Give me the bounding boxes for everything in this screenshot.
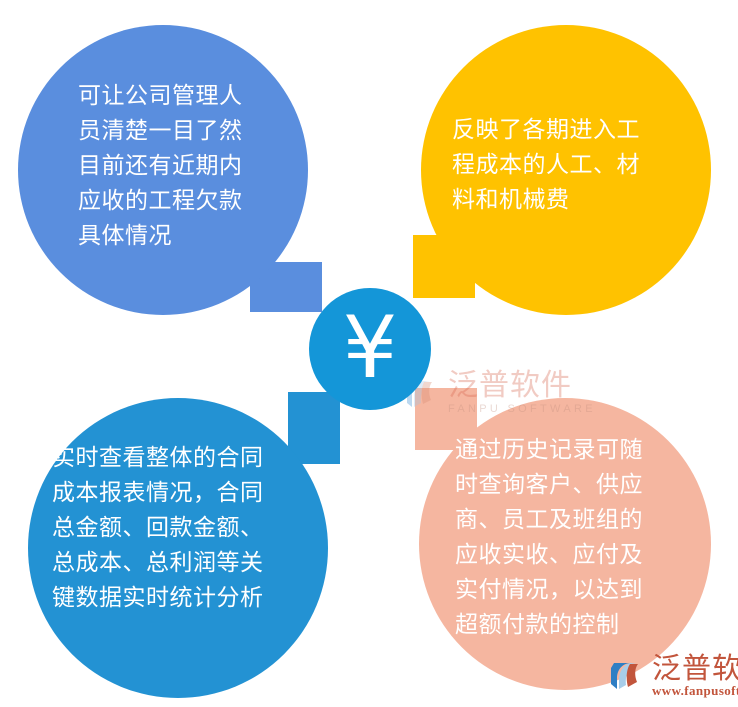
bubble-top-left-text: 可让公司管理人 员清楚一目了然 目前还有近期内 应收的工程欠款 具体情况	[78, 78, 293, 253]
center-medallion[interactable]: ¥	[309, 288, 431, 410]
bubble-bottom-right-text: 通过历史记录可随 时查询客户、供应 商、员工及班组的 应收实收、应付及 实付情况…	[455, 432, 683, 642]
infographic-canvas: 可让公司管理人 员清楚一目了然 目前还有近期内 应收的工程欠款 具体情况 反映了…	[0, 0, 738, 707]
bubble-top-right-text: 反映了各期进入工 程成本的人工、材 料和机械费	[452, 112, 687, 217]
watermark-corner-text: 泛普软件 www.fanpusoft.com	[652, 652, 738, 698]
yen-currency-icon: ¥	[343, 305, 398, 391]
watermark-corner-cn: 泛普软件	[652, 652, 738, 684]
bubble-bottom-left-text: 实时查看整体的合同 成本报表情况，合同 总金额、回款金额、 总成本、总利润等关 …	[52, 440, 324, 615]
watermark-corner-en: www.fanpusoft.com	[652, 684, 738, 698]
